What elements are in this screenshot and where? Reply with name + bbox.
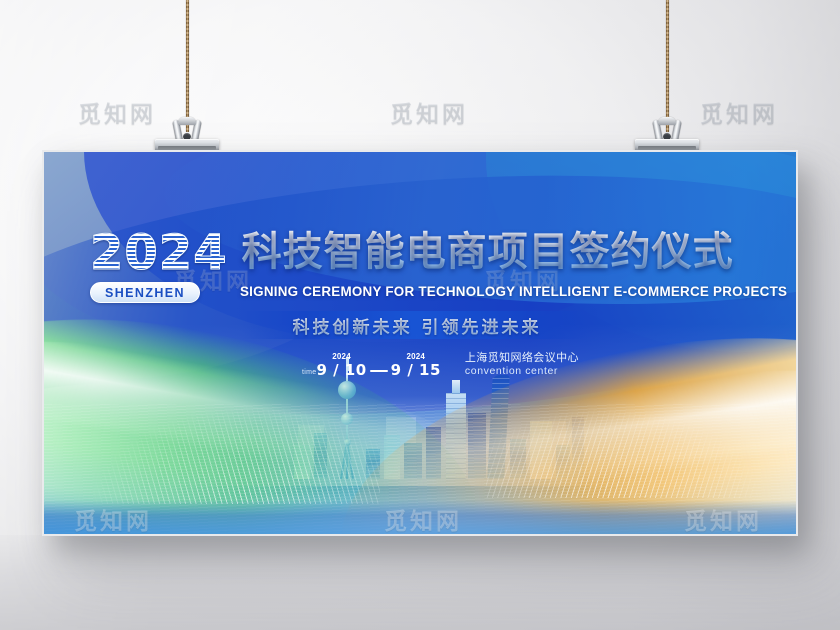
event-info-row: time 2024 9 / 10 2024 9 / 15 上海觅知网络会议中心 … xyxy=(302,352,579,378)
title-row: 2024 科技智能电商项目签约仪式 xyxy=(90,230,734,276)
clip-arm-top xyxy=(178,117,196,125)
event-venue: 上海觅知网络会议中心 convention center xyxy=(465,352,579,378)
date-end: 2024 9 / 15 xyxy=(391,352,441,378)
hanging-rope-right xyxy=(666,0,669,132)
slogan-text: 科技创新未来 引领先进未来 xyxy=(293,313,542,338)
watermark: 觅知网 xyxy=(700,95,778,129)
venue-name-cn: 上海觅知网络会议中心 xyxy=(465,352,579,365)
wall-floor-shadow xyxy=(0,535,840,630)
year-number: 2024 xyxy=(90,230,228,276)
banner-board: 觅知网 觅知网 觅知网 觅知网 觅知网 2024 科技智能电商项目签约仪式 SH… xyxy=(42,150,798,536)
start-date: 9 / 10 xyxy=(316,362,366,378)
venue-name-en: convention center xyxy=(465,365,579,378)
clip-arm-top xyxy=(658,117,676,125)
event-date: time 2024 9 / 10 2024 9 / 15 xyxy=(302,352,441,378)
time-label: time xyxy=(302,369,316,378)
city-badge: SHENZHEN xyxy=(90,282,200,303)
date-start: 2024 9 / 10 xyxy=(316,352,366,378)
hanging-rope-left xyxy=(186,0,189,132)
slogan-bar: 科技创新未来 引领先进未来 xyxy=(242,311,592,339)
date-separator xyxy=(370,370,388,372)
page-title: 科技智能电商项目签约仪式 xyxy=(242,230,734,274)
subtitle-english: SIGNING CEREMONY FOR TECHNOLOGY INTELLIG… xyxy=(240,284,787,299)
end-date: 9 / 15 xyxy=(391,362,441,378)
watermark: 觅知网 xyxy=(78,95,156,129)
watermark: 觅知网 xyxy=(390,95,468,129)
poster-content: 2024 科技智能电商项目签约仪式 SHENZHEN SIGNING CEREM… xyxy=(44,152,796,534)
banner-artwork: 觅知网 觅知网 觅知网 觅知网 觅知网 2024 科技智能电商项目签约仪式 SH… xyxy=(44,152,796,534)
